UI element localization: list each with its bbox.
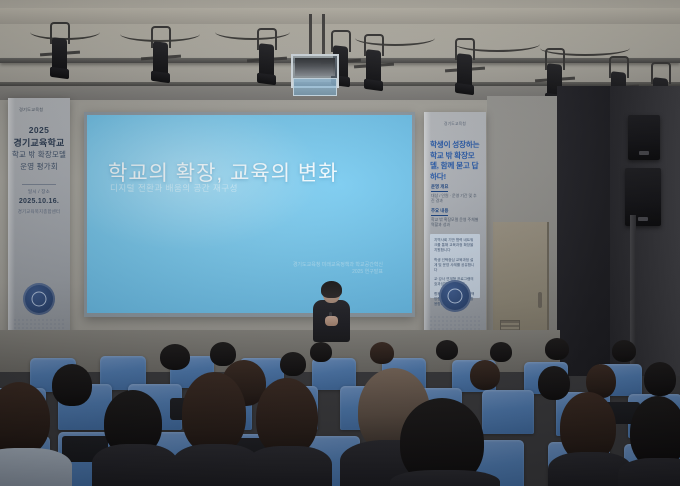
banner-left-heading1: 경기교육학교 bbox=[8, 136, 70, 149]
seat[interactable] bbox=[482, 390, 534, 434]
banner-left-rule bbox=[22, 184, 56, 185]
shield-emblem-icon bbox=[23, 283, 55, 315]
presenter bbox=[309, 283, 353, 341]
banner-right: 경기도교육청 학생이 성장하는 학교 밖 확장모델, 함께 묻고 답하다! 운영… bbox=[424, 112, 486, 340]
audience-head bbox=[538, 366, 570, 400]
slide-credit: 경기도교육청 미래교육정책과 학교공간혁신 2025 연구발표 bbox=[291, 262, 383, 275]
projector-mount-rod bbox=[322, 14, 325, 54]
door-handle[interactable] bbox=[538, 292, 542, 308]
audience-head bbox=[310, 342, 332, 362]
banner-right-section1-text: 대상 / 인원 · 운영 기간 및 추진 경과 bbox=[431, 193, 480, 204]
banner-left: 경기도교육청 2025 경기교육학교 학교 밖 확장모델 운영 평가회 일시 /… bbox=[8, 98, 70, 343]
audience-shoulders bbox=[0, 448, 72, 486]
projector-mount-rod bbox=[309, 14, 312, 54]
audience-rows bbox=[0, 336, 680, 486]
light-lens bbox=[364, 79, 383, 92]
banner-left-heading3: 운영 평가회 bbox=[8, 161, 70, 172]
banner-right-headline: 학생이 성장하는 학교 밖 확장모델, 함께 묻고 답하다! bbox=[430, 140, 480, 182]
banner-right-section2-text: 학교 밖 확장모델 운영 주체별 역할과 성과 bbox=[431, 217, 480, 228]
audience-shoulders bbox=[618, 458, 680, 486]
speaker-badge-icon bbox=[638, 217, 648, 221]
audience-shoulders bbox=[92, 444, 178, 486]
audience-head bbox=[644, 362, 676, 396]
audience-head bbox=[612, 340, 636, 362]
stage-light bbox=[49, 22, 71, 80]
audience-head bbox=[490, 342, 512, 362]
audience-head bbox=[160, 344, 190, 370]
banner-right-section1-label: 운영 개요 bbox=[431, 184, 448, 192]
presenter-hands bbox=[325, 316, 338, 326]
projector-icon bbox=[295, 58, 335, 76]
slide-subtitle: 디지털 전환과 배움의 공간 재구성 bbox=[110, 182, 238, 194]
shield-emblem-icon bbox=[439, 280, 471, 312]
light-lens bbox=[257, 73, 276, 86]
banner-left-date: 2025.10.16. bbox=[8, 198, 70, 205]
banner-left-year: 2025 bbox=[8, 125, 70, 135]
audience-head bbox=[545, 338, 569, 360]
banner-left-place: 경기교육복지종합센터 bbox=[8, 209, 70, 215]
banner-right-section2-label: 주요 내용 bbox=[431, 208, 448, 216]
light-lens bbox=[455, 83, 474, 96]
projector-glass-panel bbox=[293, 78, 337, 96]
stage-light bbox=[454, 38, 476, 96]
audience-head-foreground bbox=[256, 378, 318, 456]
audience-shoulders bbox=[390, 470, 500, 486]
banner-right-panel-line: 지역사회 기반 협력 네트워크를 통해 교육과정 확장을 지원합니다 bbox=[434, 238, 476, 254]
banner-right-logo: 경기도교육청 bbox=[424, 122, 486, 127]
projection-screen bbox=[87, 115, 412, 313]
audience-head bbox=[436, 340, 458, 360]
banner-left-heading2: 학교 밖 확장모델 bbox=[8, 149, 70, 160]
audience-head bbox=[470, 360, 500, 390]
audience-shoulders bbox=[246, 446, 332, 486]
audience-head bbox=[52, 364, 92, 406]
speaker-badge-icon bbox=[639, 151, 649, 155]
cable bbox=[215, 24, 290, 40]
light-lens bbox=[151, 71, 170, 84]
upper-speaker bbox=[628, 115, 660, 160]
audience-head-foreground bbox=[182, 372, 246, 454]
banner-left-logo: 경기도교육청 bbox=[19, 107, 43, 113]
ceiling-band bbox=[0, 8, 680, 24]
banner-right-panel-line: 학생 선택중심 교육과정 설계 및 운영 사례를 공유합니다 bbox=[434, 258, 476, 274]
auditorium-scene: 학교의 확장, 교육의 변화 디지털 전환과 배움의 공간 재구성 경기도교육청… bbox=[0, 0, 680, 486]
banner-left-meta-label: 일시 / 장소 bbox=[8, 189, 70, 195]
audience-head bbox=[370, 342, 394, 364]
stage-light bbox=[256, 28, 278, 86]
light-lens bbox=[50, 67, 69, 80]
stage-light bbox=[150, 26, 172, 84]
presenter-hair bbox=[321, 281, 342, 298]
audience-head bbox=[280, 352, 306, 376]
stage-light bbox=[363, 34, 385, 92]
